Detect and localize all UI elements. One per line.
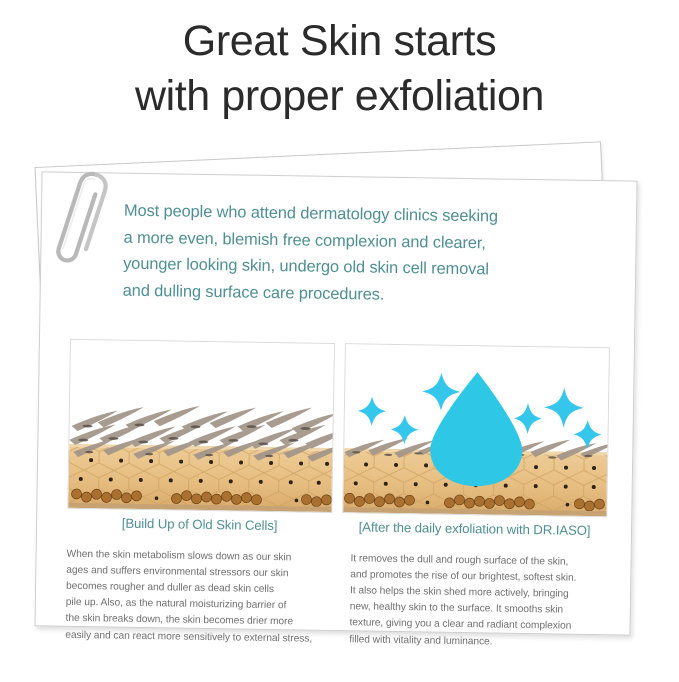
page-title: Great Skin starts with proper exfoliatio… — [0, 14, 679, 123]
intro-paragraph: Most people who attend dermatology clini… — [123, 198, 595, 312]
body-paragraph-left: When the skin metabolism slows down as o… — [65, 547, 336, 648]
left-body-line-6: easily and can react more sensitively to… — [65, 627, 335, 647]
content-card: Most people who attend dermatology clini… — [34, 171, 637, 635]
caption-before: [Build Up of Old Skin Cells] — [67, 515, 332, 534]
panel-before-exfoliation — [67, 339, 335, 513]
body-paragraphs: When the skin metabolism slows down as o… — [65, 547, 626, 652]
right-body-line-6: filled with vitality and luminance. — [349, 632, 619, 652]
page-title-line-2: with proper exfoliation — [0, 69, 679, 124]
page-title-line-1: Great Skin starts — [0, 14, 679, 69]
card-stack: Most people who attend dermatology clini… — [0, 132, 679, 682]
panel-after-exfoliation — [342, 343, 610, 517]
panel-captions: [Build Up of Old Skin Cells] [After the … — [67, 515, 607, 538]
illustration-panels — [67, 339, 610, 517]
dead-skin-flakes-illustration — [68, 340, 335, 512]
body-paragraph-right: It removes the dull and rough surface of… — [349, 551, 620, 652]
water-drop-icon — [425, 369, 527, 489]
caption-after: [After the daily exfoliation with DR.IAS… — [342, 519, 607, 538]
